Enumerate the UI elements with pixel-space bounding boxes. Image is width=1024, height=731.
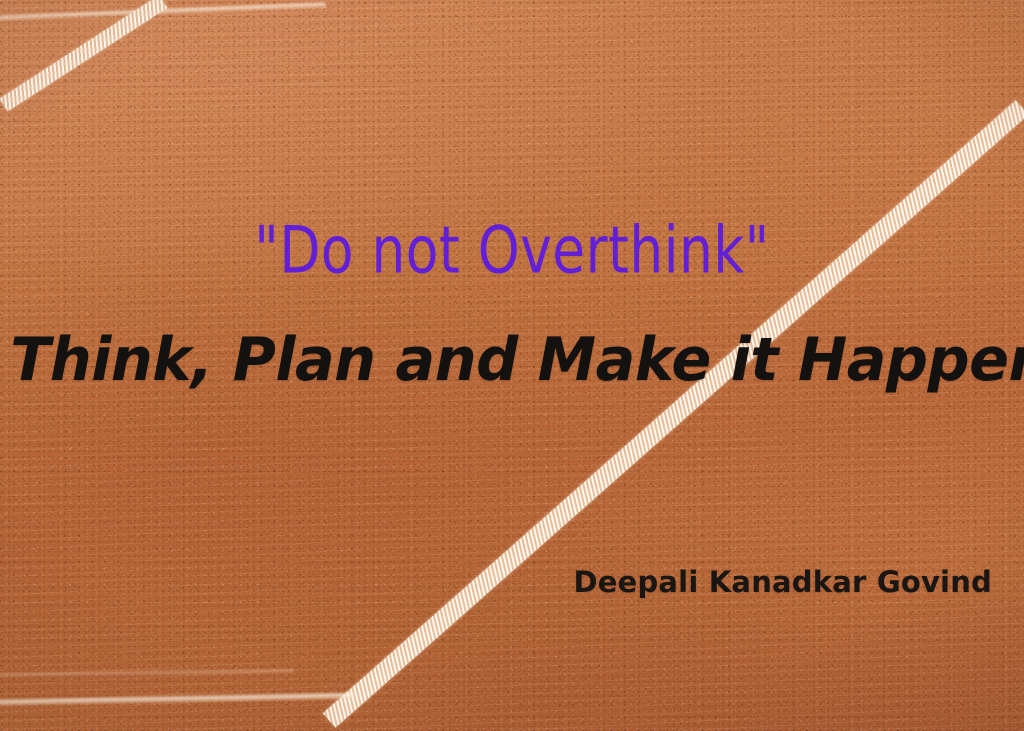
slide-canvas: "Do not Overthink" Think, Plan and Make …	[0, 0, 1024, 731]
author-credit: Deepali Kanadkar Govind	[573, 565, 992, 599]
headline-quote: "Do not Overthink"	[15, 212, 1008, 288]
headline-main: Think, Plan and Make it Happen	[10, 325, 1014, 395]
